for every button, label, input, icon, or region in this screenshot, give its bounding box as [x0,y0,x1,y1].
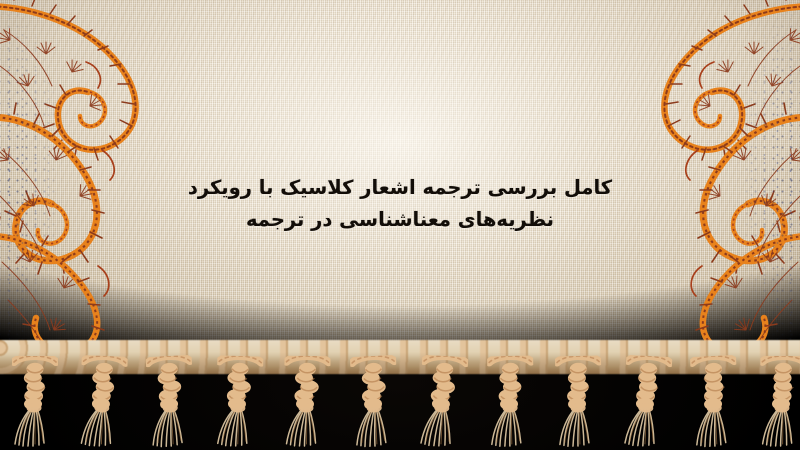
tassel [215,355,264,450]
tassel [418,355,469,450]
tassel [760,356,800,450]
tassel [146,355,197,450]
title-line-1: کامل بررسی ترجمه اشعار کلاسیک با رویکرد [0,172,800,204]
title-line-2: نظریه‌های معناشناسی در ترجمه [0,204,800,236]
tassel-fringe [0,356,800,450]
tassel [690,355,740,450]
tassel [283,356,330,450]
title-block: کامل بررسی ترجمه اشعار کلاسیک با رویکرد … [0,172,800,236]
tassel [555,355,603,450]
title-card-canvas: کامل بررسی ترجمه اشعار کلاسیک با رویکرد … [0,0,800,450]
tassel [78,355,128,450]
tassel [12,356,58,450]
tassel [487,356,535,450]
tassel [350,355,400,450]
tassel [622,355,673,450]
